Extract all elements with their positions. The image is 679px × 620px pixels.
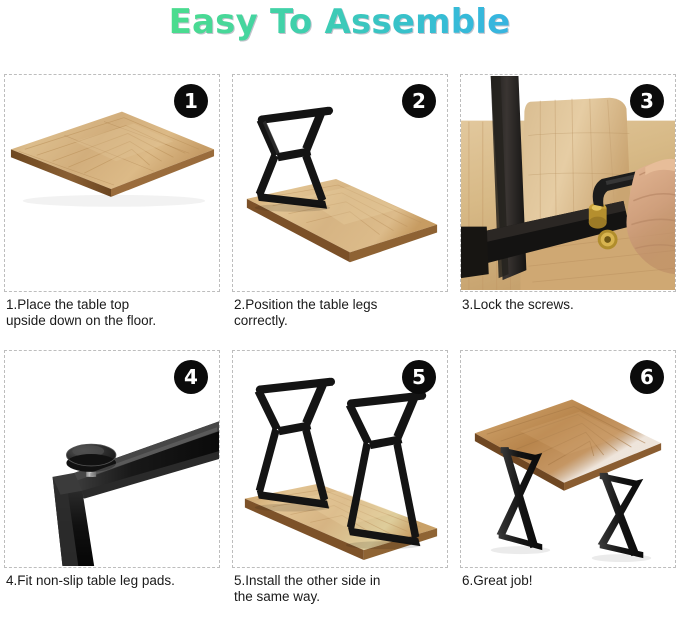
step-caption-1: 1.Place the table top upside down on the… <box>6 297 216 329</box>
step-card-2: 2 2.Position the table legs correctly. <box>232 74 448 320</box>
step-card-3: 3 3.Lock the screws. <box>460 74 676 320</box>
assembly-instructions-page: { "header": { "title": "Easy To Assemble… <box>0 0 679 620</box>
step-card-6: 6 6.Great job! <box>460 350 676 600</box>
step-caption-4: 4.Fit non-slip table leg pads. <box>6 573 216 589</box>
step-card-5: 5 5.Install the other side in the same w… <box>232 350 448 600</box>
step-card-1: 1 1.Place the table top upside down on t… <box>4 74 220 320</box>
step-badge-2: 2 <box>402 84 436 118</box>
step-card-4: 4 4.Fit non-slip table leg pads. <box>4 350 220 600</box>
step-badge-6: 6 <box>630 360 664 394</box>
page-header: Easy To Assemble <box>0 0 679 44</box>
step-image-panel-6: 6 <box>460 350 676 568</box>
step-badge-3: 3 <box>630 84 664 118</box>
steps-grid: 1 1.Place the table top upside down on t… <box>0 44 679 620</box>
step-image-panel-3: 3 <box>460 74 676 292</box>
step-badge-4: 4 <box>174 360 208 394</box>
screw-face <box>598 230 618 250</box>
step-image-panel-5: 5 <box>232 350 448 568</box>
step-caption-5: 5.Install the other side in the same way… <box>234 573 444 605</box>
step-badge-5: 5 <box>402 360 436 394</box>
step-caption-2: 2.Position the table legs correctly. <box>234 297 444 329</box>
screw-top <box>589 203 607 229</box>
step-image-panel-1: 1 <box>4 74 220 292</box>
step-image-panel-2: 2 <box>232 74 448 292</box>
step-badge-1: 1 <box>174 84 208 118</box>
page-title: Easy To Assemble <box>169 2 511 42</box>
step-caption-6: 6.Great job! <box>462 573 672 589</box>
step-image-panel-4: 4 <box>4 350 220 568</box>
table-leg-right <box>598 473 644 558</box>
step-caption-3: 3.Lock the screws. <box>462 297 672 313</box>
